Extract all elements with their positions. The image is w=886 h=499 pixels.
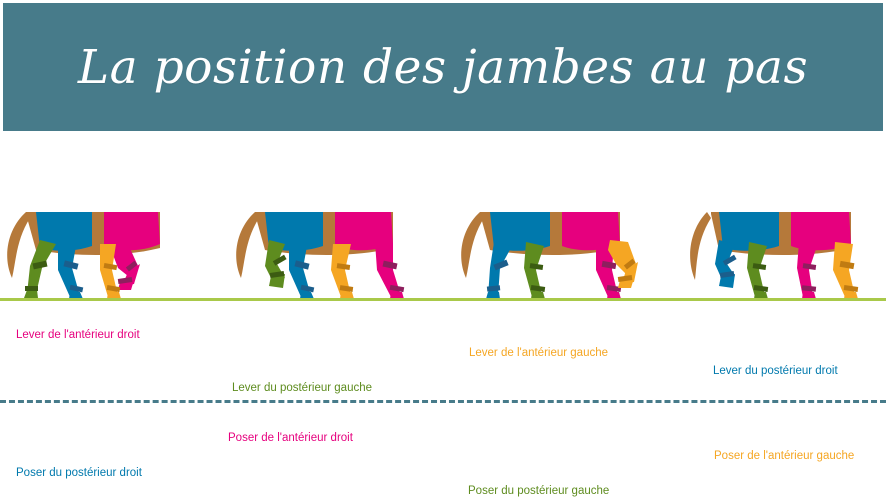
page-title: La position des jambes au pas xyxy=(3,3,883,131)
horse-step-2 xyxy=(225,200,455,304)
label-lever-posterieur-droit: Lever du postérieur droit xyxy=(713,364,838,378)
ground-line xyxy=(0,298,886,301)
label-lever-anterieur-gauche: Lever de l'antérieur gauche xyxy=(469,346,608,360)
horse-sequence xyxy=(0,200,886,304)
infographic-root: La position des jambes au pas xyxy=(0,0,886,499)
label-lever-posterieur-gauche: Lever du postérieur gauche xyxy=(232,381,372,395)
horse-step-3 xyxy=(450,200,680,304)
label-poser-anterieur-droit: Poser de l'antérieur droit xyxy=(228,431,353,445)
label-poser-posterieur-gauche: Poser du postérieur gauche xyxy=(468,484,609,498)
title-banner: La position des jambes au pas xyxy=(3,3,883,131)
label-lever-anterieur-droit: Lever de l'antérieur droit xyxy=(16,328,140,342)
phase-divider xyxy=(0,400,886,403)
label-poser-anterieur-gauche: Poser de l'antérieur gauche xyxy=(714,449,854,463)
horse-step-4 xyxy=(675,200,886,304)
horse-step-1 xyxy=(0,200,230,304)
label-poser-posterieur-droit: Poser du postérieur droit xyxy=(16,466,142,480)
